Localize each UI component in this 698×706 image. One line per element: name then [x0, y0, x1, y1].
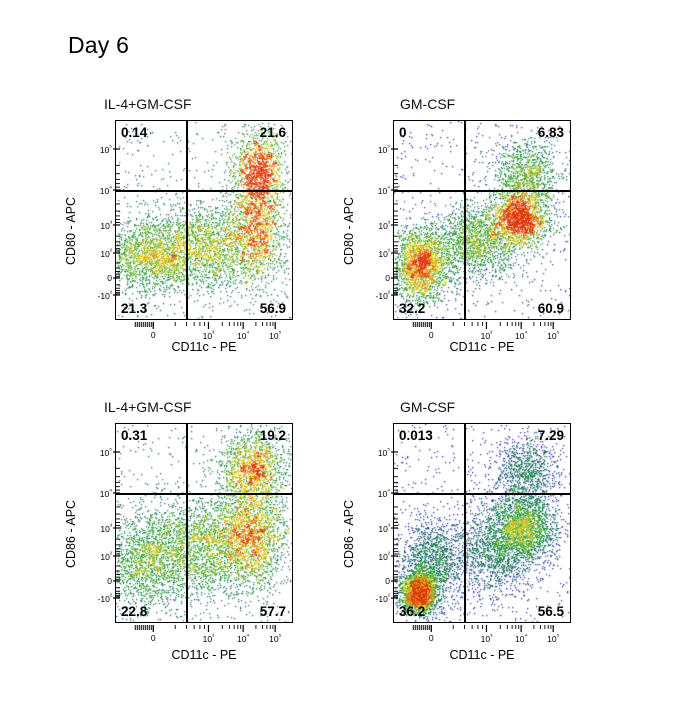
y-tick-label: 10²: [378, 552, 390, 561]
y-tick-label: -10²: [376, 594, 390, 603]
x-axis-ticks: 010³10⁴10⁵: [393, 625, 571, 645]
y-tick-label: 10⁴: [378, 489, 390, 498]
x-tick-marks: [393, 625, 571, 633]
x-tick-label: 10⁴: [507, 634, 535, 643]
panel-title: GM-CSF: [400, 399, 455, 415]
quadrant-lower-left: 36.2: [399, 604, 425, 619]
y-tick-label: 10³: [378, 524, 390, 533]
plot-area[interactable]: 0.013 7.29 36.2 56.5: [393, 423, 571, 623]
x-tick-label: 10³: [472, 634, 500, 643]
gate-horizontal[interactable]: [394, 493, 570, 495]
scatter-canvas: [394, 424, 571, 623]
y-tick-marks: [390, 423, 398, 623]
y-axis-ticks: 10⁵10⁴10³10²0-10²: [356, 423, 390, 623]
x-axis-label: CD11c - PE: [393, 648, 571, 662]
quadrant-upper-left: 0.013: [399, 428, 433, 443]
gate-vertical[interactable]: [464, 424, 466, 622]
figure-root: Day 6 IL-4+GM-CSF CD80 - APC CD11c - PE …: [0, 0, 698, 706]
x-tick-label: 10⁵: [539, 634, 567, 643]
x-tick-label: 0: [417, 634, 445, 643]
y-axis-label: CD86 - APC: [342, 500, 356, 568]
quadrant-upper-right: 7.29: [538, 428, 564, 443]
quadrant-lower-right: 56.5: [538, 604, 564, 619]
panel-bottom-right: GM-CSF CD86 - APC CD11c - PE 0.013 7.29 …: [0, 0, 698, 706]
y-tick-label: 10⁵: [378, 448, 390, 457]
